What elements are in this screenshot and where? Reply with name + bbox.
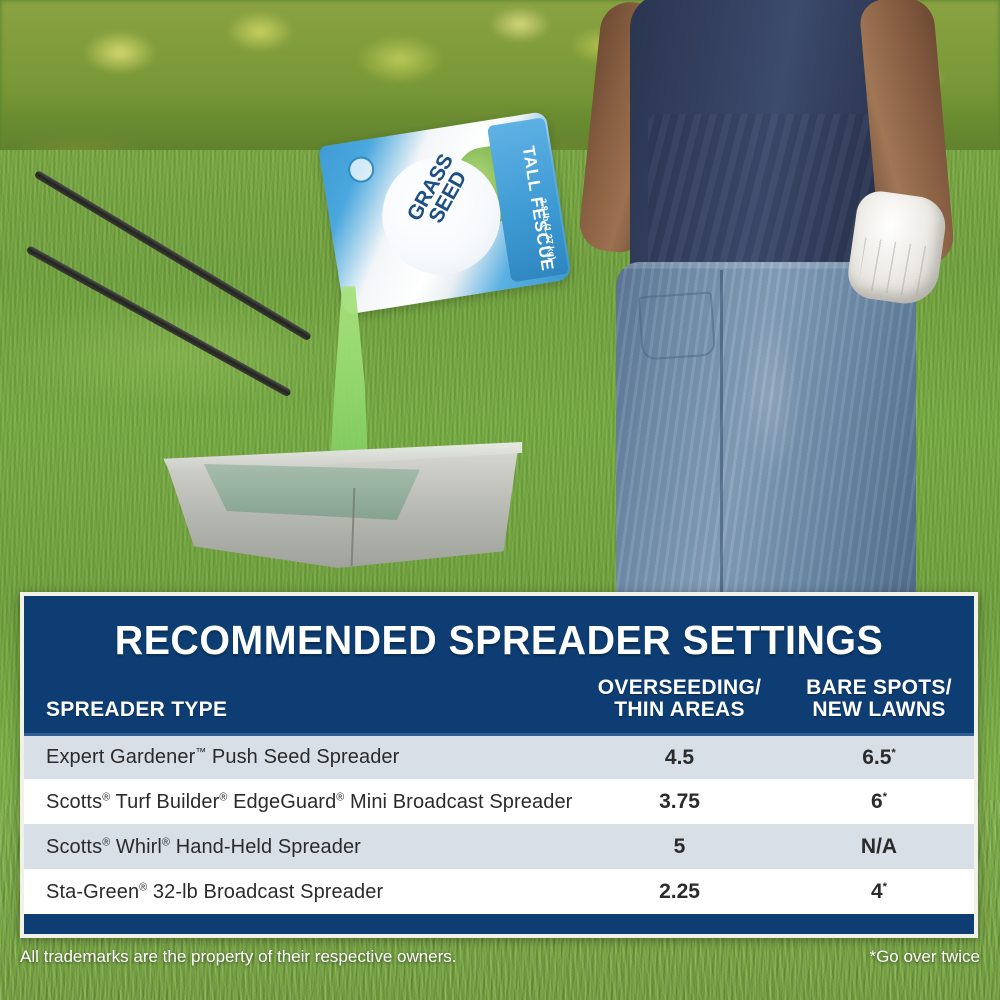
- column-header-overseeding-line1: OVERSEEDING/: [598, 676, 761, 699]
- row-name-prefix: Scotts: [46, 791, 102, 813]
- row-name-prefix: Expert Gardener: [46, 746, 195, 768]
- table-row: Scotts® Turf Builder® EdgeGuard® Mini Br…: [24, 779, 974, 824]
- table-row: Scotts® Whirl® Hand-Held Spreader 5 N/A: [24, 824, 974, 869]
- table-body: Expert Gardener™ Push Seed Spreader 4.5 …: [24, 734, 974, 914]
- jeans-pocket: [638, 291, 716, 360]
- jeans-seam: [720, 270, 723, 595]
- footnote-asterisk-icon: *: [891, 747, 895, 759]
- column-header-bare-spots-line1: BARE SPOTS/: [806, 676, 952, 699]
- cell-spreader-type: Sta-Green® 32-lb Broadcast Spreader: [24, 869, 575, 914]
- row-name-suffix: 32-lb Broadcast Spreader: [147, 881, 383, 903]
- column-header-bare-spots: BARE SPOTS/ NEW LAWNS: [784, 661, 974, 734]
- footer: All trademarks are the property of their…: [20, 948, 980, 965]
- cell-overseeding: 5: [575, 824, 784, 869]
- table-row: Expert Gardener™ Push Seed Spreader 4.5 …: [24, 734, 974, 779]
- row-name-suffix: Push Seed Spreader: [206, 746, 399, 768]
- row-name-suffix: Mini Broadcast Spreader: [344, 791, 572, 813]
- cell-bare-spots-value: 6.5: [862, 746, 891, 769]
- trademark-notice: All trademarks are the property of their…: [20, 948, 457, 965]
- spreader-settings-card: RECOMMENDED SPREADER SETTINGS SPREADER T…: [20, 592, 978, 938]
- grass-seed-bag: GRASS SEED TALL FESCUE 2.8 lb (1.27 kg): [318, 111, 572, 315]
- footnote-asterisk-icon: *: [883, 791, 887, 803]
- cell-bare-spots: 6*: [784, 779, 974, 824]
- row-name-prefix: Sta-Green: [46, 881, 139, 903]
- cell-bare-spots: N/A: [784, 824, 974, 869]
- footnote-note: *Go over twice: [869, 948, 980, 965]
- person-figure: [570, 0, 1000, 594]
- broadcast-spreader-icon: [130, 430, 530, 610]
- cell-overseeding: 4.5: [575, 734, 784, 779]
- table-head: SPREADER TYPE OVERSEEDING/ THIN AREAS BA…: [24, 661, 974, 734]
- row-name-mid1: Whirl: [110, 836, 162, 858]
- column-header-bare-spots-line2: NEW LAWNS: [812, 698, 945, 721]
- work-glove-icon: [845, 188, 949, 307]
- column-header-overseeding-line2: THIN AREAS: [614, 698, 745, 721]
- footnote-asterisk-icon: *: [883, 881, 887, 893]
- table-header-row: SPREADER TYPE OVERSEEDING/ THIN AREAS BA…: [24, 661, 974, 734]
- cell-bare-spots: 6.5*: [784, 734, 974, 779]
- cell-overseeding: 3.75: [575, 779, 784, 824]
- cell-overseeding: 2.25: [575, 869, 784, 914]
- card-inner: RECOMMENDED SPREADER SETTINGS SPREADER T…: [24, 596, 974, 934]
- row-name-suffix: Hand-Held Spreader: [170, 836, 361, 858]
- cell-spreader-type: Scotts® Whirl® Hand-Held Spreader: [24, 824, 575, 869]
- table-row: Sta-Green® 32-lb Broadcast Spreader 2.25…: [24, 869, 974, 914]
- registered-mark-icon: ®: [162, 836, 170, 848]
- page-title: RECOMMENDED SPREADER SETTINGS: [43, 596, 955, 661]
- cell-bare-spots-value: 6: [871, 790, 883, 813]
- cell-bare-spots-value: 4: [871, 880, 883, 903]
- row-name-mid2: EdgeGuard: [227, 791, 336, 813]
- row-name-prefix: Scotts: [46, 836, 102, 858]
- cell-spreader-type: Expert Gardener™ Push Seed Spreader: [24, 734, 575, 779]
- cell-spreader-type: Scotts® Turf Builder® EdgeGuard® Mini Br…: [24, 779, 575, 824]
- cell-bare-spots-value: N/A: [861, 835, 897, 858]
- spreader-settings-table: SPREADER TYPE OVERSEEDING/ THIN AREAS BA…: [24, 661, 974, 914]
- cell-bare-spots: 4*: [784, 869, 974, 914]
- trademark-mark-icon: ™: [195, 747, 206, 759]
- column-header-spreader-type: SPREADER TYPE: [24, 661, 575, 734]
- column-header-overseeding: OVERSEEDING/ THIN AREAS: [575, 661, 784, 734]
- row-name-mid1: Turf Builder: [110, 791, 219, 813]
